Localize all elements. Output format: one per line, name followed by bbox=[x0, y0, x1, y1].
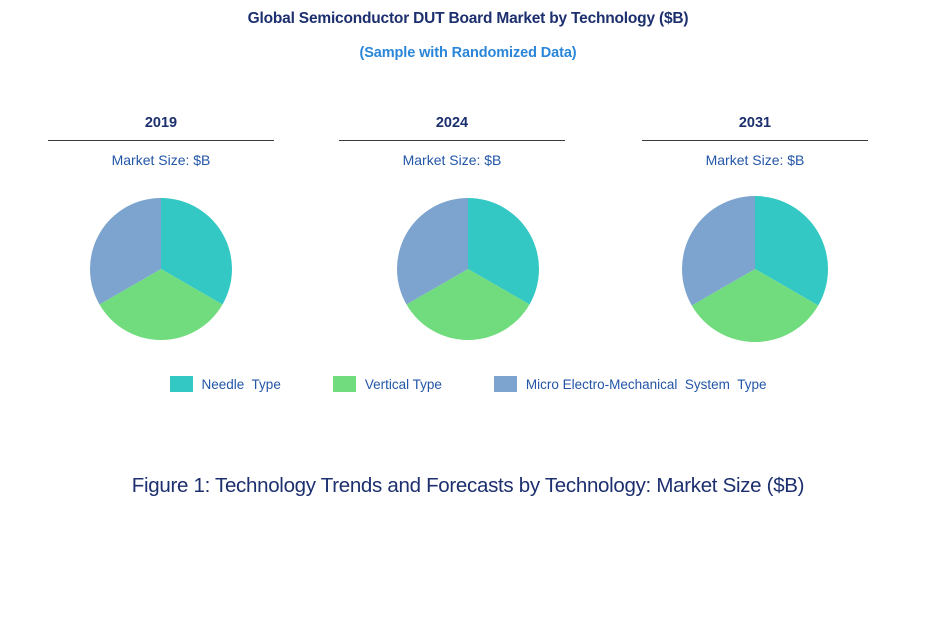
legend-swatch-icon bbox=[170, 376, 193, 392]
pie-chart-2031 bbox=[682, 196, 828, 342]
year-column-2019: 2019 Market Size: $B bbox=[21, 112, 301, 168]
legend-swatch-icon bbox=[494, 376, 517, 392]
legend-item-needle-type[interactable]: Needle Type bbox=[170, 376, 281, 392]
column-divider bbox=[48, 140, 274, 141]
pie-svg bbox=[682, 196, 828, 342]
pie-svg bbox=[397, 198, 539, 340]
year-label: 2031 bbox=[615, 112, 895, 134]
column-divider bbox=[339, 140, 565, 141]
legend-item-label: Needle Type bbox=[202, 377, 281, 392]
legend-item-vertical-type[interactable]: Vertical Type bbox=[333, 376, 442, 392]
chart-title: Global Semiconductor DUT Board Market by… bbox=[0, 10, 936, 28]
legend-item-mems-type[interactable]: Micro Electro-Mechanical System Type bbox=[494, 376, 767, 392]
chart-legend: Needle Type Vertical Type Micro Electro-… bbox=[0, 376, 936, 392]
measure-label: Market Size: $B bbox=[21, 152, 301, 168]
measure-label: Market Size: $B bbox=[312, 152, 592, 168]
figure-caption: Figure 1: Technology Trends and Forecast… bbox=[0, 474, 936, 498]
measure-label: Market Size: $B bbox=[615, 152, 895, 168]
legend-item-label: Micro Electro-Mechanical System Type bbox=[526, 377, 767, 392]
pie-chart-2024 bbox=[397, 198, 539, 340]
year-label: 2019 bbox=[21, 112, 301, 134]
legend-item-label: Vertical Type bbox=[365, 377, 442, 392]
year-label: 2024 bbox=[312, 112, 592, 134]
column-divider bbox=[642, 140, 868, 141]
year-column-2024: 2024 Market Size: $B bbox=[312, 112, 592, 168]
pie-svg bbox=[90, 198, 232, 340]
chart-subtitle: (Sample with Randomized Data) bbox=[0, 45, 936, 61]
pie-chart-2019 bbox=[90, 198, 232, 340]
year-column-2031: 2031 Market Size: $B bbox=[615, 112, 895, 168]
legend-swatch-icon bbox=[333, 376, 356, 392]
